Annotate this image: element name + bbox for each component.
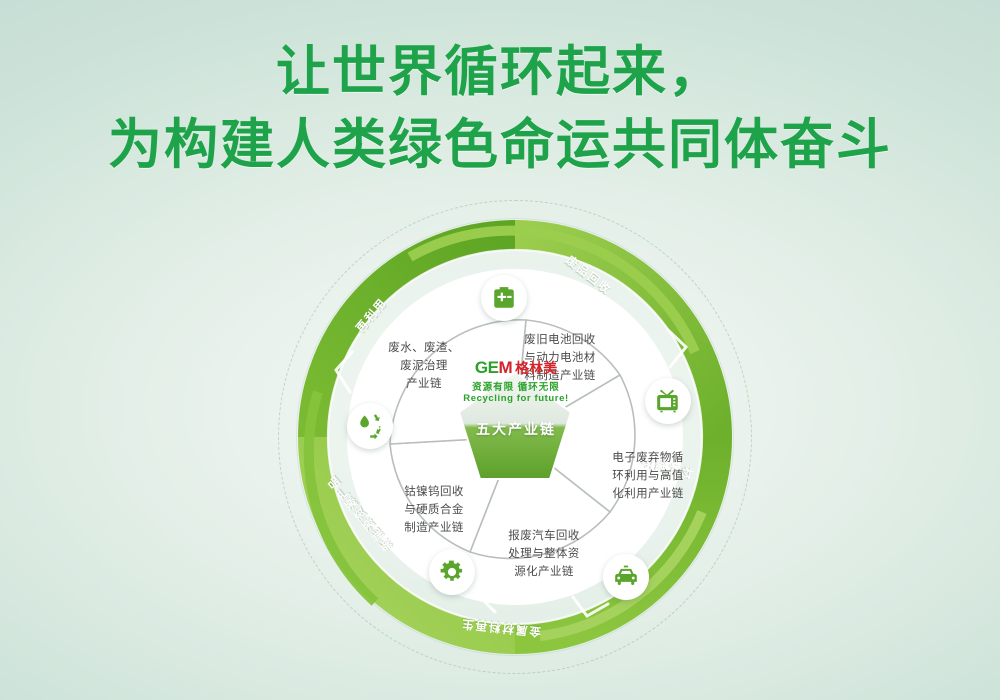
logo-subtitle: 五大产业链 (440, 419, 592, 439)
battery-icon-bubble[interactable] (481, 275, 527, 321)
tv-icon-bubble[interactable] (645, 378, 691, 424)
car-icon-bubble[interactable] (603, 554, 649, 600)
battery-icon (491, 285, 517, 311)
logo-slogan-en: Recycling for future! (440, 393, 592, 404)
logo-brand-cn: 格林美 (515, 358, 557, 378)
page-title-line-1: 让世界循环起来， (0, 38, 1000, 107)
logo-brand-latin: GEM (475, 358, 512, 378)
chain-text-cobalt: 钴镍钨回收 与硬质合金 制造产业链 (382, 484, 486, 537)
car-icon (613, 564, 639, 590)
logo-slogan-cn: 资源有限 循环无限 (440, 379, 592, 393)
gear-icon (439, 559, 465, 585)
page-title: 让世界循环起来， 为构建人类绿色命运共同体奋斗 (0, 38, 1000, 180)
tv-icon (655, 388, 681, 414)
water-recycle-icon-bubble[interactable] (347, 403, 393, 449)
chain-text-ewaste: 电子废弃物循 环利用与高值 化利用产业链 (602, 450, 694, 503)
gear-icon-bubble[interactable] (429, 549, 475, 595)
logo-brand-row: GEM 格林美 (440, 358, 592, 378)
gem-logo: GEM 格林美 资源有限 循环无限 Recycling for future! … (440, 358, 592, 439)
page-title-line-2: 为构建人类绿色命运共同体奋斗 (0, 111, 1000, 180)
circular-infographic: 废品回收 材料循环 金属材料再生 新能源资源产品 再利用 废旧电池回收 与动力电… (290, 212, 740, 662)
chain-text-car: 报废汽车回收 处理与整体资 源化产业链 (492, 528, 596, 581)
water-recycle-icon (357, 413, 383, 439)
